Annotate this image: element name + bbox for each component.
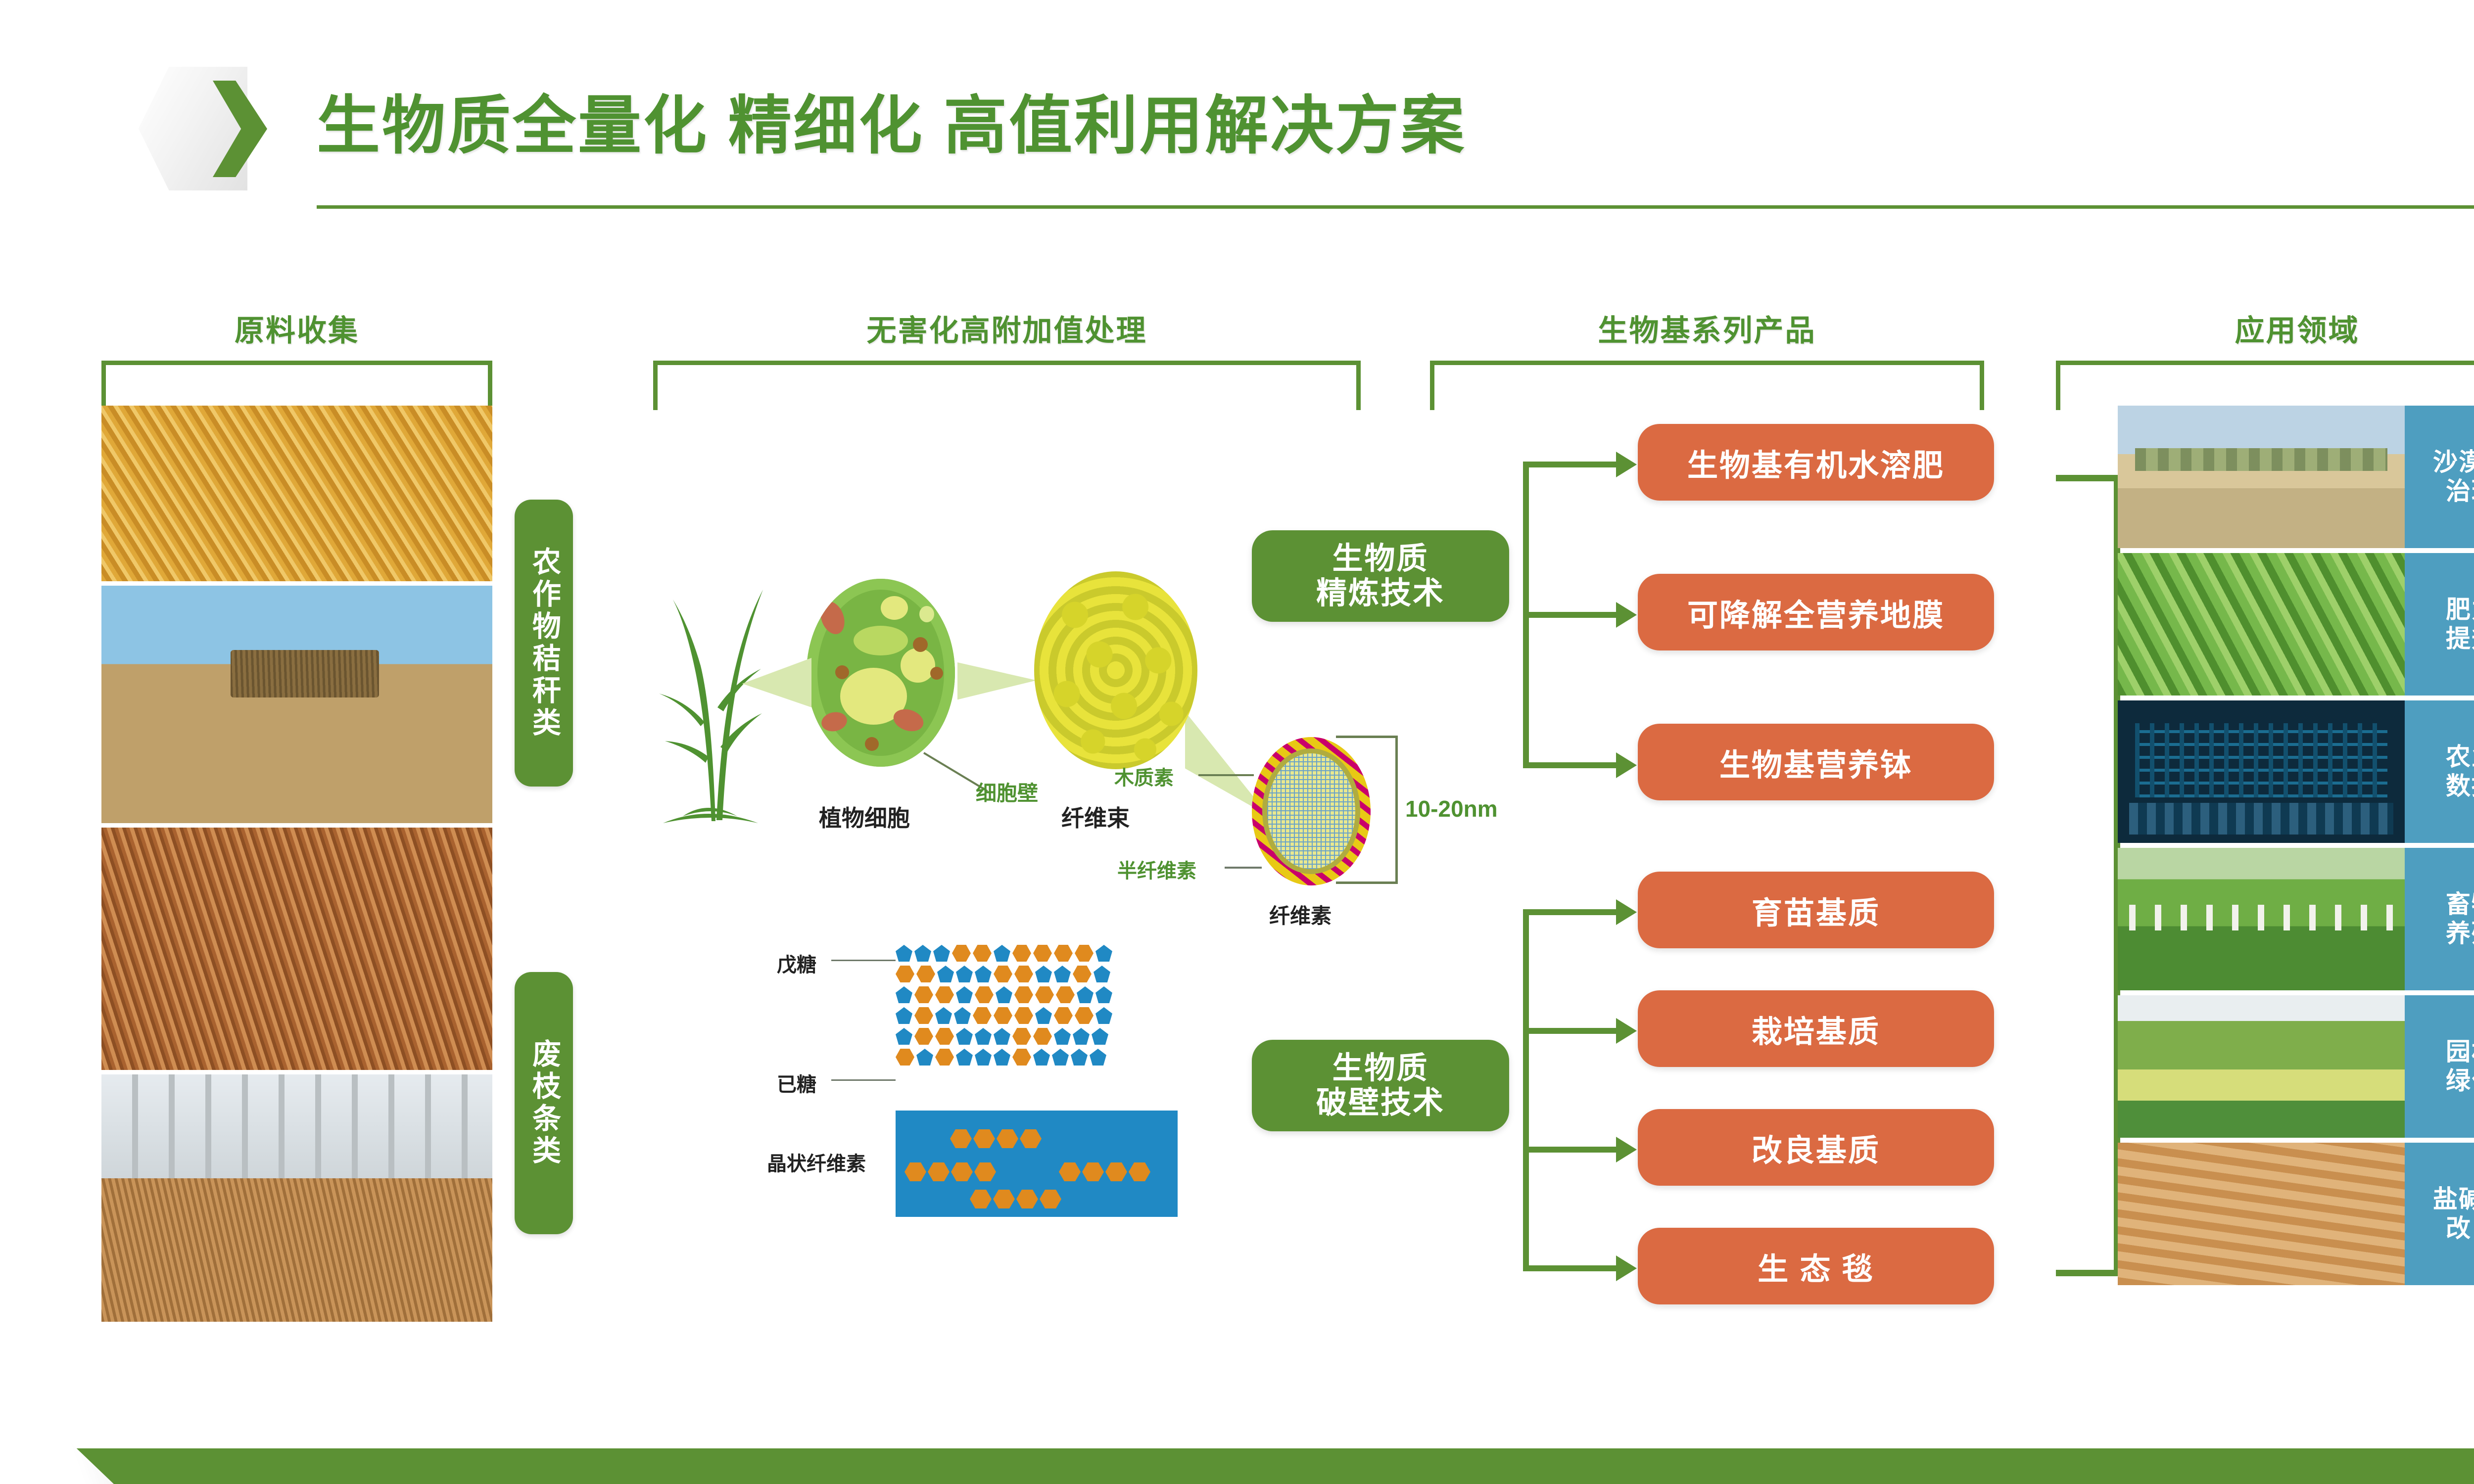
sugar-row [896,1007,1178,1024]
technology-label-line2: 精炼技术 [1316,576,1445,610]
application-row-fertility-improvement[interactable]: 肥力 提升 [2118,553,2474,696]
plant-cell-label: 植物细胞 [819,800,910,833]
column-bracket [2056,361,2474,410]
column-heading-label: 无害化高附加值处理 [653,307,1361,350]
application-label-line1: 肥力 [2446,595,2474,624]
cellulose-core [1267,753,1355,869]
arrow-head-icon [1616,1255,1637,1281]
arrow-head-icon [1616,452,1637,477]
sugar-chain-diagram: 戊糖 已糖 晶状纤维素 [767,945,1192,1222]
hemicellulose-leader-line [1225,867,1262,869]
application-label-line2: 提升 [2446,624,2474,653]
column-heading-label: 应用领域 [2056,307,2474,350]
nano-dimension-bracket-line [1395,736,1398,884]
application-row-livestock[interactable]: 畜牧 养殖 [2118,848,2474,990]
technology-label-line1: 生物质 [1332,1051,1428,1085]
application-label-line1: 盐碱地 [2433,1185,2474,1214]
bracket-cap-top [2056,475,2120,481]
feedstock-category-waste-branches[interactable]: 废枝条类 [515,972,573,1234]
technology-wall-breaking[interactable]: 生物质 破壁技术 [1252,1040,1509,1131]
crystal-row [950,1129,1042,1148]
hemicellulose-label: 半纤维素 [1117,855,1196,883]
lignin-leader-line [1198,774,1254,776]
feedstock-photo-stack [101,406,492,1326]
application-label-line1: 园林 [2446,1037,2474,1067]
feedstock-category-crop-straw[interactable]: 农作物秸秆类 [515,500,573,787]
arrow-to-product-2 [1523,612,1617,618]
technology-label-line2: 破壁技术 [1316,1086,1445,1120]
application-label-line1: 畜牧 [2446,890,2474,919]
application-label-line2: 养殖 [2446,919,2474,948]
application-label-line1: 沙漠化 [2433,448,2474,477]
arrow-to-product-6 [1523,1147,1617,1153]
plant-grass-icon [653,559,767,826]
plant-cell-illustration [807,579,955,767]
connector-bracket-wall-breaking [1523,909,1529,1265]
application-label: 盐碱地 改良 [2405,1143,2474,1285]
arrow-head-icon [1616,602,1637,628]
fiber-bundle-label: 纤维束 [1061,800,1130,833]
product-bio-nutrient-pot[interactable]: 生物基营养钵 [1638,724,1994,800]
product-bio-organic-water-soluble-fertilizer[interactable]: 生物基有机水溶肥 [1638,424,1994,501]
page-title: 生物质全量化 精细化 高值利用解决方案 [317,74,1466,166]
application-row-saline-alkali-land[interactable]: 盐碱地 改良 [2118,1143,2474,1285]
bottom-accent-band [0,1448,2474,1484]
product-biodegradable-nutrient-mulch-film[interactable]: 可降解全营养地膜 [1638,574,1994,650]
product-cultivation-substrate[interactable]: 栽培基质 [1638,990,1994,1067]
crystal-row [1059,1162,1150,1181]
pentose-leader-line [831,960,896,961]
crystal-row [970,1190,1061,1208]
corn-stover-photo [101,406,492,581]
column-heading-label: 原料收集 [101,307,492,350]
agriculture-data-screen-photo [2118,700,2405,843]
application-label: 肥力 提升 [2405,553,2474,696]
hexose-label: 已糖 [777,1068,816,1097]
application-label: 畜牧 养殖 [2405,848,2474,990]
sugar-row [896,1028,1178,1045]
applications-bracket [2056,475,2120,1276]
arrow-to-product-4 [1523,909,1617,915]
column-heading-label: 生物基系列产品 [1430,307,1984,350]
application-row-desert-control[interactable]: 沙漠化 治理 [2118,406,2474,548]
application-row-agriculture-data[interactable]: 农业 数据 [2118,700,2474,843]
application-label-line2: 绿化 [2446,1067,2474,1096]
column-heading-products: 生物基系列产品 [1430,307,1984,410]
product-ecological-blanket[interactable]: 生 态 毯 [1638,1228,1994,1304]
applications-list: 沙漠化 治理 肥力 提升 农业 数据 畜牧 养殖 园林 绿化 盐碱地 [2118,406,2474,1290]
application-label: 园林 绿化 [2405,995,2474,1138]
hexose-leader-line [831,1079,896,1081]
cellulose-label: 纤维素 [1269,899,1332,929]
sugar-row [896,966,1178,982]
lignin-label: 木质素 [1114,762,1174,790]
landscape-greening-photo [2118,995,2405,1138]
arrow-head-icon [1616,899,1637,925]
crystal-row [904,1162,996,1181]
grazing-sheep-photo [2118,848,2405,990]
column-heading-processing: 无害化高附加值处理 [653,307,1361,410]
product-seedling-substrate[interactable]: 育苗基质 [1638,872,1994,948]
application-label-line2: 改良 [2446,1214,2474,1243]
application-label: 沙漠化 治理 [2405,406,2474,548]
column-bracket [1430,361,1984,410]
sugar-row [896,945,1178,962]
application-label-line2: 数据 [2446,772,2474,801]
column-bracket [653,361,1361,410]
pentose-label: 戊糖 [777,949,816,977]
technology-label-line1: 生物质 [1332,542,1428,576]
desert-control-photo [2118,406,2405,548]
fiber-bundle-illustration [1034,571,1197,769]
cell-wall-label: 细胞壁 [976,777,1038,807]
bottom-wedge-left [0,1375,114,1484]
bracket-cap-bottom [2056,1270,2120,1276]
technology-refining[interactable]: 生物质 精炼技术 [1252,530,1509,622]
nano-dimension-label: 10-20nm [1405,795,1498,822]
sugar-row [896,1049,1178,1066]
arrow-head-icon [1616,752,1637,778]
column-heading-feedstock: 原料收集 [101,307,492,410]
hexagon-logo-badge [139,67,272,190]
arrow-to-product-3 [1523,762,1617,768]
crystalline-cellulose-label: 晶状纤维素 [767,1148,866,1176]
sugar-rows [896,945,1178,1069]
arrow-to-product-1 [1523,462,1617,467]
arrow-head-icon [1616,1018,1637,1044]
column-bracket [101,361,492,410]
application-label: 农业 数据 [2405,700,2474,843]
arrow-to-product-5 [1523,1028,1617,1034]
application-label-line1: 农业 [2446,742,2474,772]
sugar-row [896,986,1178,1003]
zoom-cone-cell-to-fiber [957,643,1037,707]
nano-dimension-tick-top [1336,736,1398,738]
saline-alkali-land-photo [2118,1143,2405,1285]
nano-dimension-tick-bottom [1336,881,1398,884]
straw-bale-field-photo [101,586,492,823]
orchard-pruning-photo [101,1074,492,1322]
cellulose-fiber-cross-section [1252,737,1371,885]
page-header: 生物质全量化 精细化 高值利用解决方案 [0,0,2474,232]
cabbage-field-photo [2118,553,2405,696]
application-label-line2: 治理 [2446,477,2474,506]
bracket-stem [1523,909,1529,1265]
title-underline-rule [317,205,2474,209]
pruned-branches-photo [101,828,492,1070]
arrow-to-product-7 [1523,1265,1617,1271]
arrow-head-icon [1616,1137,1637,1162]
column-heading-applications: 应用领域 [2056,307,2474,410]
product-improvement-substrate[interactable]: 改良基质 [1638,1109,1994,1186]
application-row-landscape-greening[interactable]: 园林 绿化 [2118,995,2474,1138]
crystalline-cellulose-illustration [896,1111,1178,1217]
bracket-cap-bottom [1523,1259,1529,1265]
